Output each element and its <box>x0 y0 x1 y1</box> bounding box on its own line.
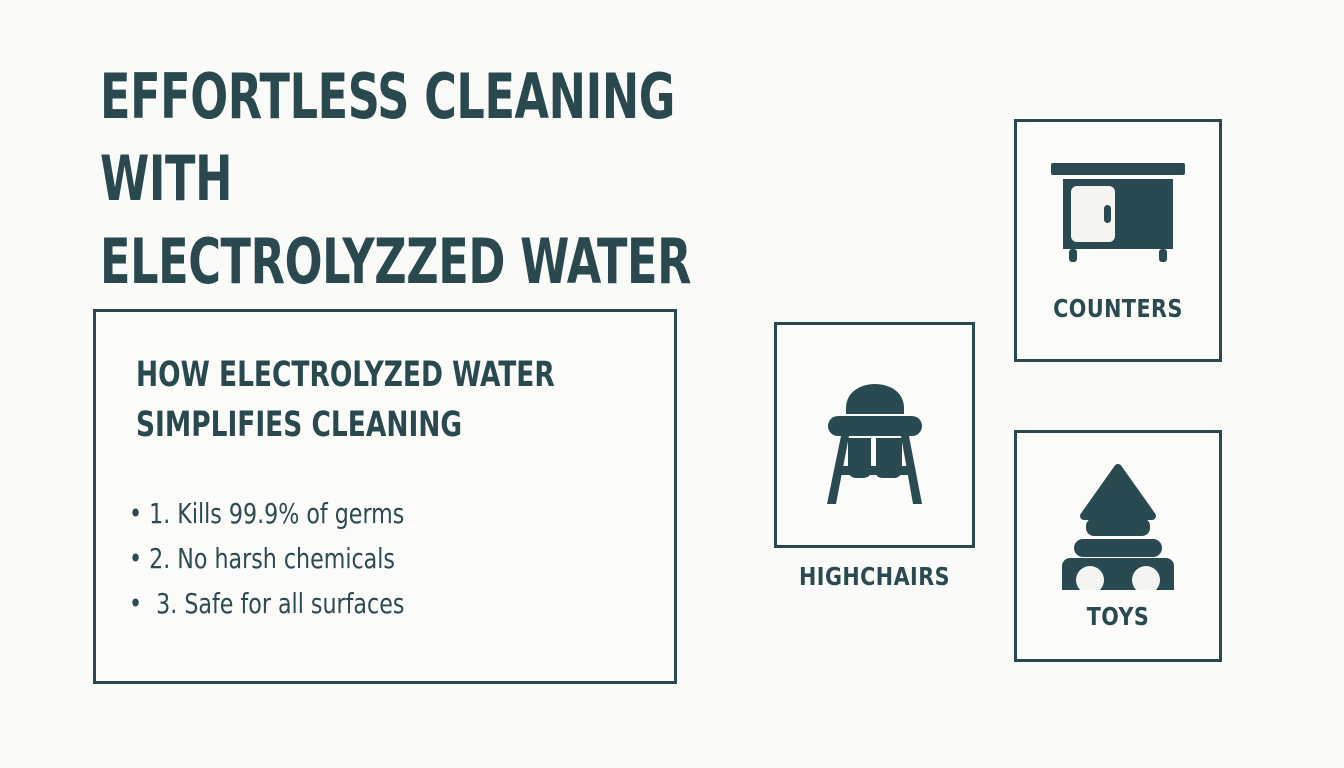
icon-tile-label-counters: COUNTERS <box>1025 294 1211 323</box>
icon-tile-label-toys: TOYS <box>1025 602 1211 631</box>
icon-tile-highchairs <box>774 322 975 548</box>
kitchen-counter-cabinet-icon <box>1017 150 1219 280</box>
icon-tile-counters: COUNTERS <box>1014 119 1222 362</box>
benefits-card-heading: HOW ELECTROLYZED WATER SIMPLIFIES CLEANI… <box>136 351 573 450</box>
list-item: • 3. Safe for all surfaces <box>129 590 587 618</box>
list-item: • 1. Kills 99.9% of germs <box>129 500 587 528</box>
stacking-ring-toy-icon <box>1017 455 1219 595</box>
icon-tile-label-highchairs: HIGHCHAIRS <box>782 562 967 591</box>
benefits-card: HOW ELECTROLYZED WATER SIMPLIFIES CLEANI… <box>93 309 677 684</box>
benefits-list: • 1. Kills 99.9% of germs • 2. No harsh … <box>129 500 649 635</box>
page-title: EFFORTLESS CLEANING WITH ELECTROLYZZED W… <box>100 56 788 303</box>
baby-highchair-icon <box>777 355 972 515</box>
list-item: • 2. No harsh chemicals <box>129 545 587 573</box>
icon-tile-toys: TOYS <box>1014 430 1222 662</box>
